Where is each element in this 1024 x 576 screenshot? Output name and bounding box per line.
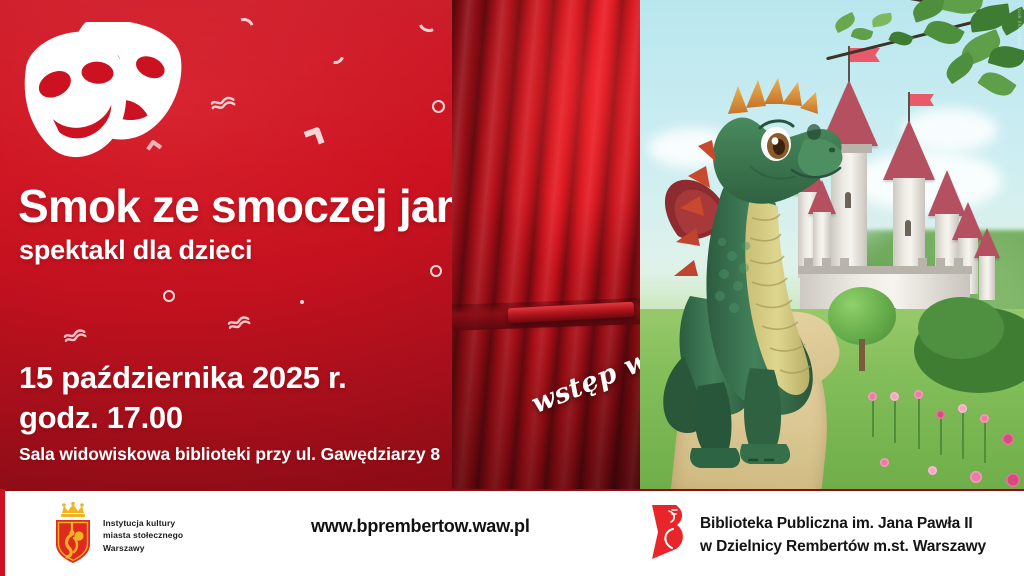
library-name: Biblioteka Publiczna im. Jana Pawła II w… [700, 512, 986, 559]
event-poster: Smok ze smoczej jamy spektakl dla dzieci… [0, 0, 1024, 576]
footer-left-accent [0, 489, 5, 576]
leaf [871, 13, 892, 28]
flower [890, 392, 899, 401]
poster-footer: Instytucja kultury miasta stołecznego Wa… [0, 489, 1024, 576]
flower [958, 404, 967, 413]
website-url[interactable]: www.bprembertow.waw.pl [311, 516, 530, 537]
crenellation [936, 258, 945, 267]
flower [980, 414, 989, 423]
leaf [851, 25, 874, 43]
event-datetime: 15 października 2025 r. godz. 17.00 [19, 358, 346, 437]
crenellation [954, 258, 963, 267]
flower [970, 471, 982, 483]
leaf [923, 15, 965, 50]
event-venue: Sala widowiskowa biblioteki przy ul. Gaw… [19, 444, 440, 465]
crenellation [918, 258, 927, 267]
fairytale-scene: stock illustration [640, 0, 1024, 489]
tower-window [905, 220, 911, 236]
event-date: 15 października 2025 r. [19, 360, 346, 395]
flower-stem [984, 419, 986, 463]
flower-stem [918, 395, 920, 449]
tower-roof [974, 228, 1000, 258]
flower-stem [894, 397, 896, 443]
flower-stem [940, 415, 942, 455]
image-watermark: stock illustration [1017, 6, 1022, 47]
theatre-masks-icon [6, 22, 196, 172]
warsaw-mermaid-crest-icon [52, 502, 94, 564]
flower-stem [962, 409, 964, 459]
flower [928, 466, 937, 475]
event-time: godz. 17.00 [19, 398, 346, 438]
warsaw-line-1: Instytucja kultury [103, 518, 175, 528]
warsaw-line-3: Warszawy [103, 543, 145, 553]
flower [1002, 433, 1014, 445]
dragon-illustration [654, 56, 884, 476]
flower [936, 410, 945, 419]
castle-tower [979, 256, 995, 300]
warsaw-logo-text: Instytucja kultury miasta stołecznego Wa… [103, 517, 183, 554]
library-b-logo-icon [650, 503, 688, 561]
flower [1006, 473, 1020, 487]
leaf [888, 28, 913, 49]
flower [914, 390, 923, 399]
leaf [977, 66, 1016, 102]
library-line-1: Biblioteka Publiczna im. Jana Pawła II [700, 512, 986, 535]
warsaw-line-2: miasta stołecznego [103, 530, 183, 540]
footer-divider [0, 489, 1024, 491]
bush [918, 297, 1004, 359]
library-line-2: w Dzielnicy Rembertów m.st. Warszawy [700, 535, 986, 558]
